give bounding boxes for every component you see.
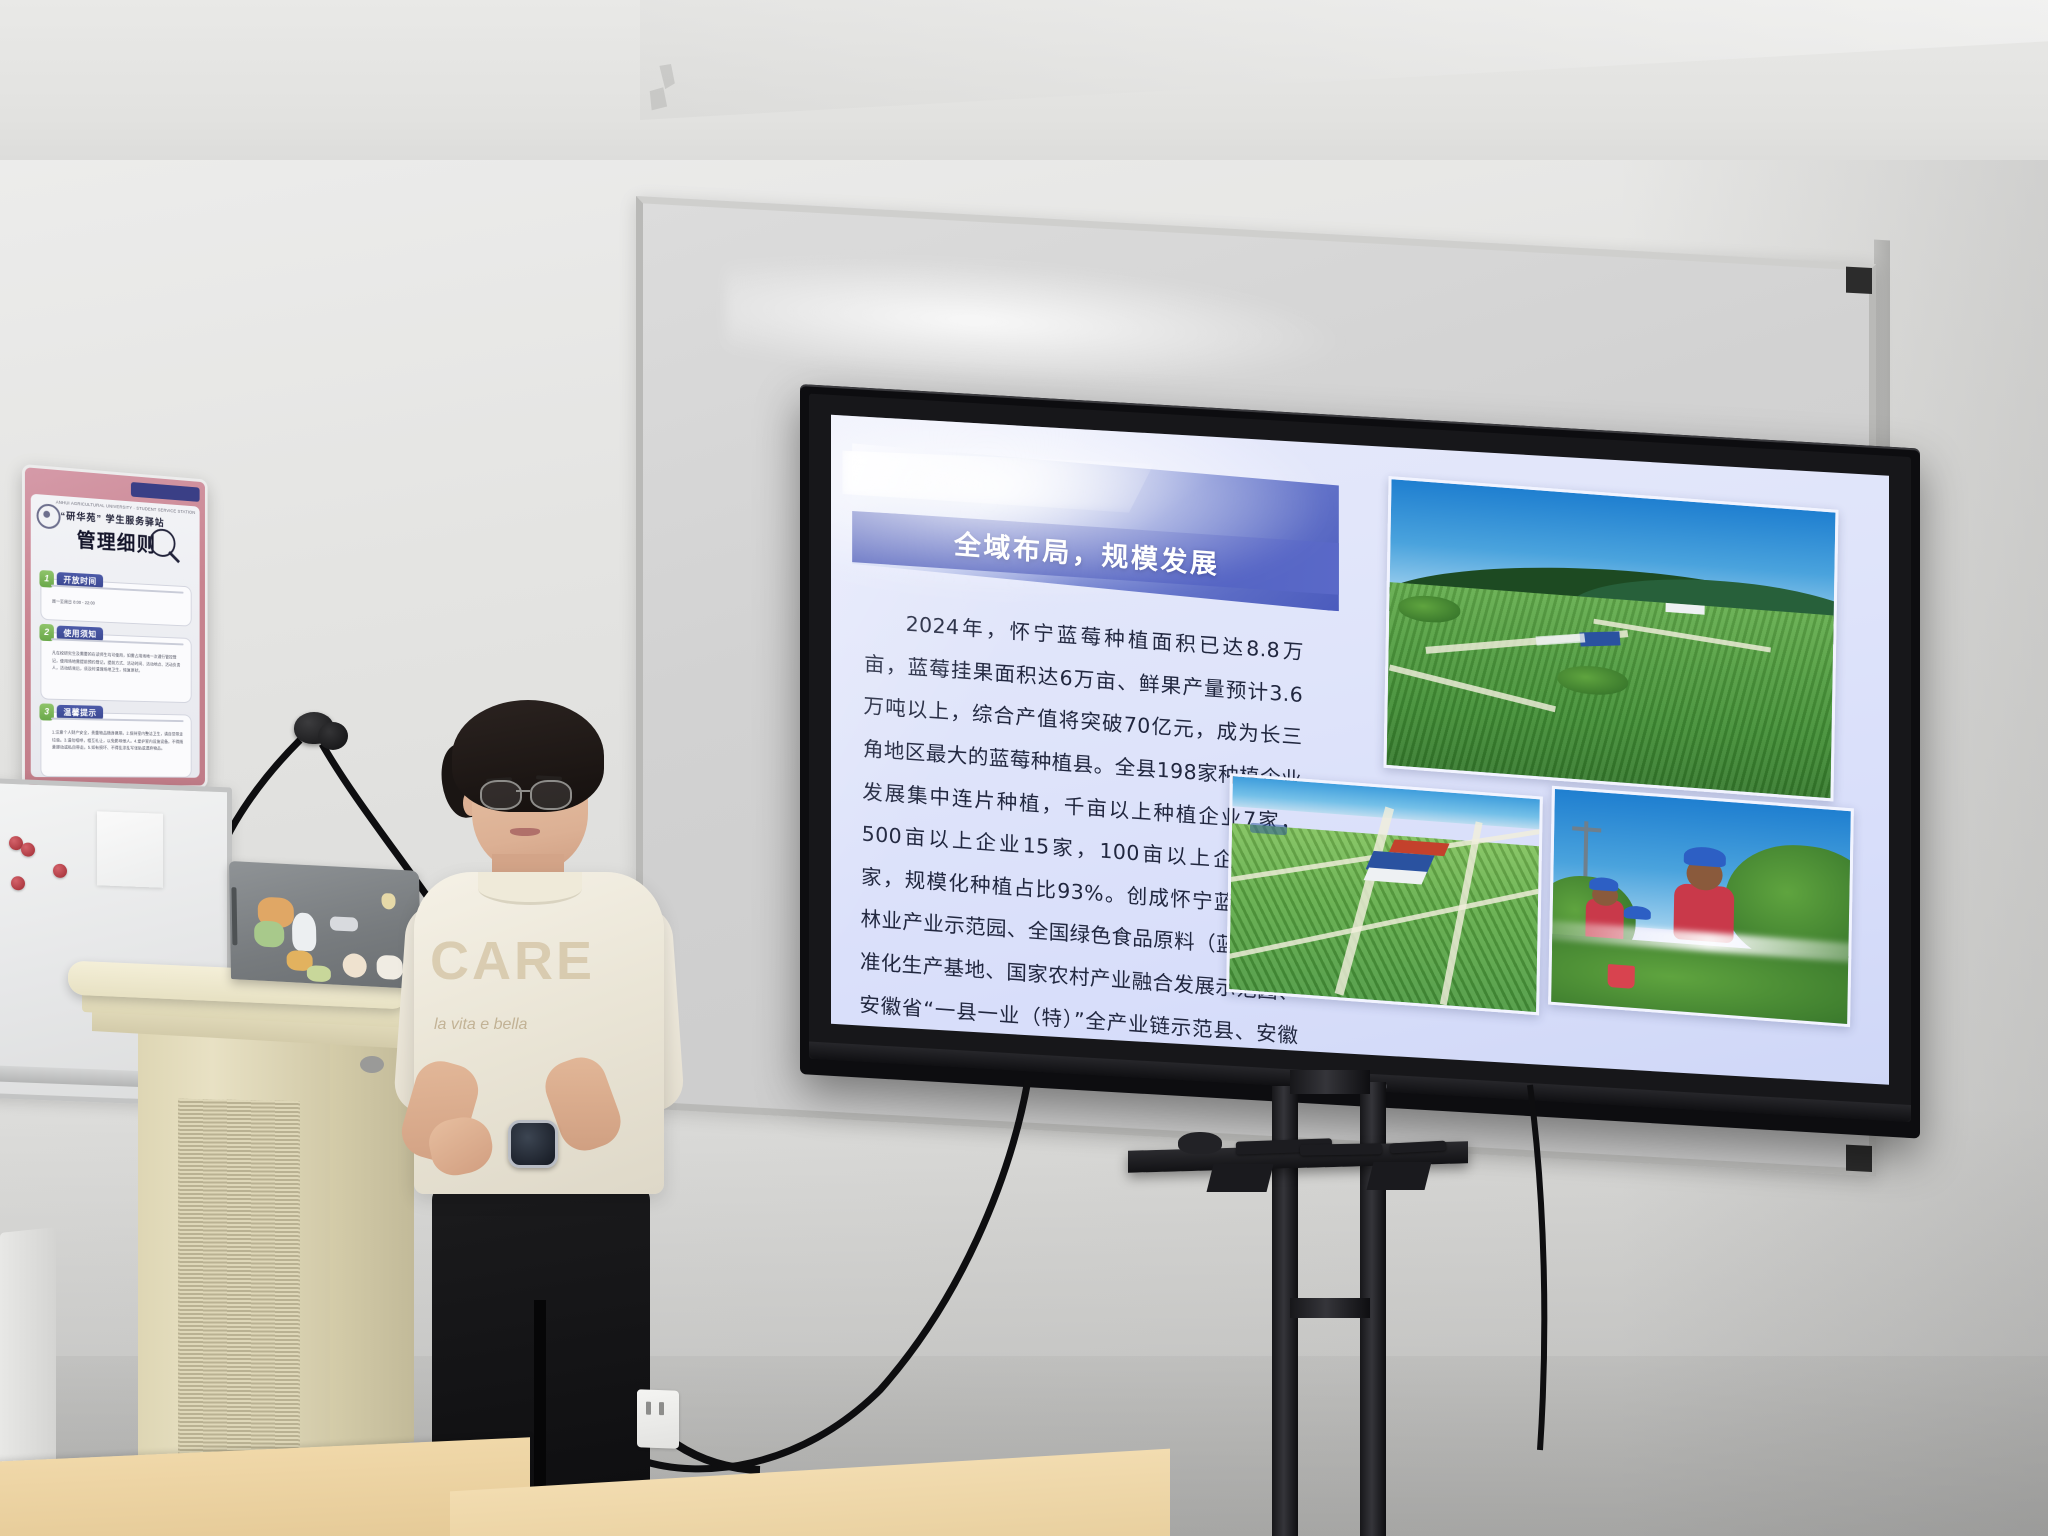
podium-speaker-grille	[178, 1099, 300, 1470]
wall-rail	[0, 1227, 56, 1483]
eyeglasses-bridge-icon	[516, 790, 530, 792]
laptop-sticker	[254, 920, 284, 948]
laptop-sticker	[381, 893, 395, 910]
poster-divider	[51, 585, 184, 594]
slide-title-ribbon: 全域布局，规模发展	[852, 443, 1339, 611]
microphone-capsule-icon	[318, 722, 348, 750]
wireless-mouse-icon[interactable]	[1178, 1132, 1222, 1154]
smartwatch-icon	[508, 1120, 558, 1168]
magnet-icon	[11, 876, 25, 891]
magnifier-icon	[149, 528, 175, 558]
tv-stand-shelf-bracket	[1207, 1164, 1274, 1192]
tv-bezel: 全域布局，规模发展 2024年，怀宁蓝莓种植面积已达8.8万亩，蓝莓挂果面积达6…	[809, 394, 1911, 1123]
poster-section-card: 1 开放时间 周一至周日 8:00 - 22:00	[40, 578, 191, 627]
eyeglasses-lens-icon	[530, 780, 572, 810]
presenter-hair	[452, 700, 604, 812]
photo-harvest-basket	[1608, 963, 1635, 988]
poster-header-tag	[131, 482, 200, 502]
whiteboard-corner-bracket	[1846, 267, 1872, 294]
eyeglasses-lens-icon	[480, 780, 522, 810]
photo-greenhouse	[1580, 632, 1621, 648]
whiteboard-corner-bracket	[1846, 1145, 1872, 1172]
wall-poster-student-service-station: ANHUI AGRICULTURAL UNIVERSITY · STUDENT …	[22, 464, 208, 788]
laptop-sticker	[292, 912, 317, 951]
laptop-sticker	[330, 916, 358, 931]
poster-section-text: 周一至周日 8:00 - 22:00	[52, 598, 184, 612]
tv-stand-shelf-bracket	[1367, 1162, 1432, 1190]
laptop-sticker	[342, 953, 366, 978]
laptop-lid[interactable]	[229, 861, 421, 989]
screenshot-root: 全域布局，规模发展 2024年，怀宁蓝莓种植面积已达8.8万亩，蓝莓挂果面积达6…	[0, 0, 2048, 1536]
tshirt-graphic-text: CARE	[430, 930, 600, 1026]
wall-power-outlet	[637, 1389, 679, 1448]
poster-section-text: 凡在校研究生及需要的在读师生均可使用，如需占用场地一次通行管控登记，使用场地需提…	[52, 649, 184, 676]
laptop-sticker	[307, 965, 331, 982]
laptop-hinge	[231, 887, 237, 945]
slide-photo-aerial-fields-hills	[1384, 477, 1839, 803]
poster-section-card: 2 使用须知 凡在校研究生及需要的在读师生均可使用，如需占用场地一次通行管控登记…	[40, 632, 191, 703]
poster-subheading: 管理细则	[77, 524, 156, 558]
presenter-collar	[478, 872, 582, 905]
poster-divider	[51, 638, 184, 645]
poster-section-text: 1.注意个人财产安全，贵重物品随身携带。2.保持室内整洁卫生，请自觉带走垃圾。3…	[52, 729, 184, 753]
tv-stand-crossbar-mid	[1290, 1298, 1370, 1318]
poster-section-card: 3 温馨提示 1.注意个人财产安全，贵重物品随身携带。2.保持室内整洁卫生，请自…	[40, 711, 191, 777]
laptop-sticker	[376, 955, 402, 980]
university-seal-icon	[37, 503, 61, 530]
tshirt-script-text: la vita e bella	[434, 1016, 604, 1034]
presentation-slide: 全域布局，规模发展 2024年，怀宁蓝莓种植面积已达8.8万亩，蓝莓挂果面积达6…	[831, 415, 1889, 1085]
magnet-icon	[21, 842, 35, 857]
outlet-slot	[659, 1402, 664, 1415]
podium-cable-grommet	[360, 1056, 384, 1073]
ceiling-scuff-mark	[642, 62, 700, 124]
slide-photo-aerial-farmhouse	[1226, 773, 1543, 1015]
presenter-mouth	[510, 828, 540, 836]
paper-note	[97, 811, 163, 888]
wall-mounted-tv[interactable]: 全域布局，规模发展 2024年，怀宁蓝莓种植面积已达8.8万亩，蓝莓挂果面积达6…	[800, 384, 1920, 1139]
tv-stand-crossbar-top	[1290, 1070, 1370, 1094]
presenter-clicker-icon[interactable]	[1300, 1143, 1382, 1155]
slide-photo-harvest-workers	[1549, 786, 1855, 1028]
outlet-slot	[646, 1402, 651, 1415]
magnet-icon	[53, 864, 67, 879]
poster-body: ANHUI AGRICULTURAL UNIVERSITY · STUDENT …	[31, 494, 200, 778]
